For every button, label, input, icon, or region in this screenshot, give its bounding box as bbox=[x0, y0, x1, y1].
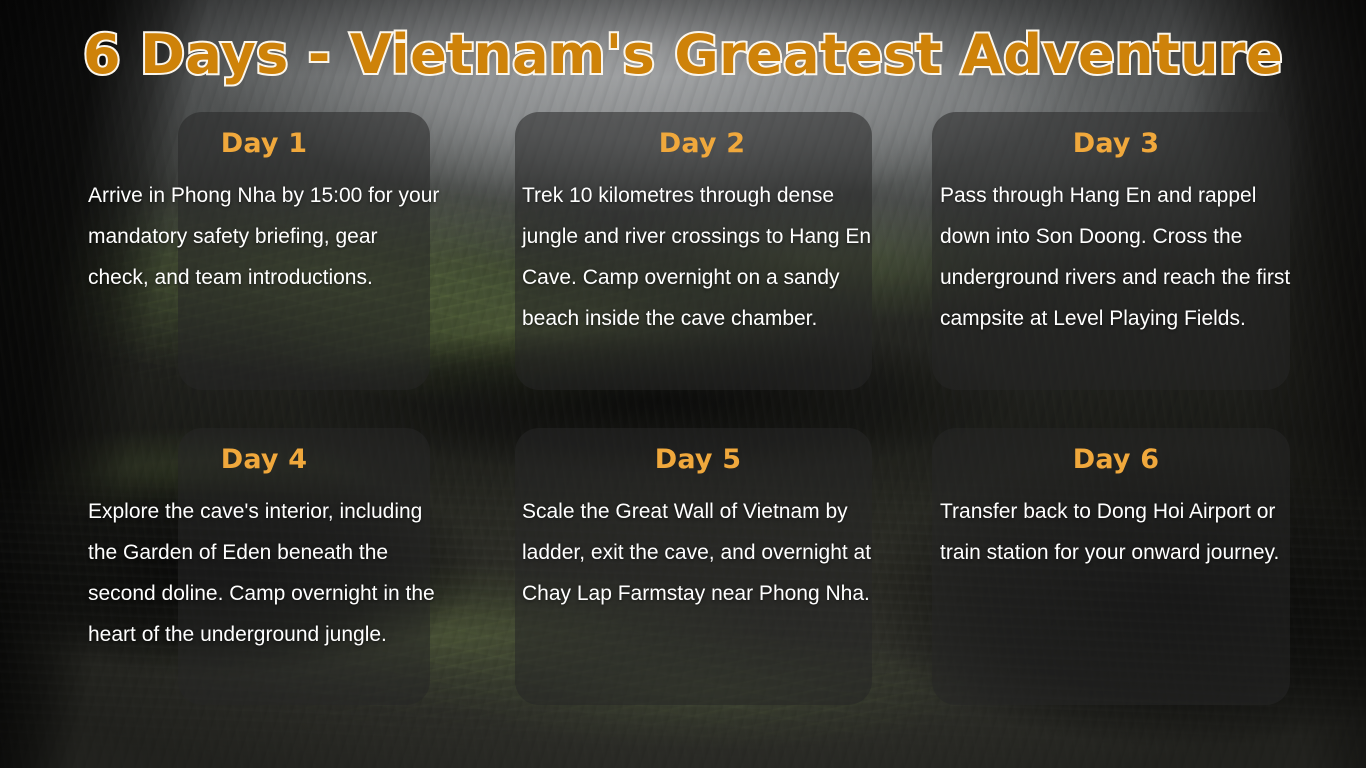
day-card-1-body: Arrive in Phong Nha by 15:00 for your ma… bbox=[88, 175, 440, 298]
day-card-5-content: Day 5 Scale the Great Wall of Vietnam by… bbox=[522, 446, 874, 614]
day-card-1-content: Day 1 Arrive in Phong Nha by 15:00 for y… bbox=[88, 130, 440, 298]
day-card-6-content: Day 6 Transfer back to Dong Hoi Airport … bbox=[940, 446, 1292, 573]
title-container: 6 Days - Vietnam's Greatest Adventure bbox=[0, 24, 1366, 86]
day-card-6-heading: Day 6 bbox=[940, 446, 1292, 473]
day-card-5-body: Scale the Great Wall of Vietnam by ladde… bbox=[522, 491, 874, 614]
day-card-3-body: Pass through Hang En and rappel down int… bbox=[940, 175, 1292, 339]
day-card-6-body: Transfer back to Dong Hoi Airport or tra… bbox=[940, 491, 1292, 573]
day-card-5-heading: Day 5 bbox=[522, 446, 874, 473]
day-card-2-heading: Day 2 bbox=[522, 130, 882, 157]
day-card-4-body: Explore the cave's interior, including t… bbox=[88, 491, 440, 655]
slide-canvas: 6 Days - Vietnam's Greatest Adventure Da… bbox=[0, 0, 1366, 768]
day-card-2-body: Trek 10 kilometres through dense jungle … bbox=[522, 175, 882, 339]
page-title: 6 Days - Vietnam's Greatest Adventure bbox=[83, 24, 1283, 86]
day-card-3-heading: Day 3 bbox=[940, 130, 1292, 157]
day-card-4-heading: Day 4 bbox=[88, 446, 440, 473]
day-card-1-heading: Day 1 bbox=[88, 130, 440, 157]
